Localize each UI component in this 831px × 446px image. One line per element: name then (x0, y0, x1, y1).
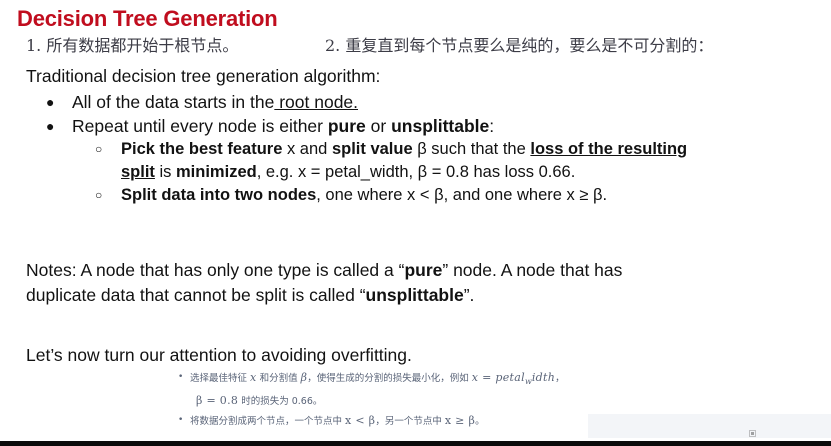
notes-text-part: Notes: A node that has only one type is … (26, 260, 404, 280)
bullet-text-underlined: root node. (274, 92, 358, 112)
bullet-text-part: : (489, 116, 494, 136)
bullet-list: ● All of the data starts in the root nod… (0, 90, 831, 207)
notes-line-1: Notes: A node that has only one type is … (26, 258, 816, 283)
annotation-math-equation: x = petal (472, 371, 525, 384)
annotation-math-condition-2: x ≥ β (445, 414, 475, 427)
annotation-text-part: 选择最佳特征 (190, 373, 250, 384)
sub-bullet-line-1: Pick the best feature x and split value … (121, 138, 831, 161)
list-item: ● Repeat until every node is either pure… (0, 114, 831, 138)
chinese-annotation-block: • 选择最佳特征 x 和分割值 β，使得生成的分割的损失最小化，例如 x = p… (178, 368, 798, 431)
notes-text-bold: pure (404, 260, 442, 280)
sub-bullet-marker-icon: ○ (95, 138, 102, 161)
sub-text-part: x and (282, 140, 332, 158)
sub-bullet-line-1: Split data into two nodes, one where x <… (121, 184, 831, 207)
notes-text-bold: unsplittable (366, 285, 464, 305)
annotation-text-part: 将数据分割成两个节点，一个节点中 (190, 416, 345, 427)
annotation-text-part: ， (555, 373, 565, 384)
chinese-overlay-item-1: 1. 所有数据都开始于根节点。 (26, 32, 238, 56)
bullet-text-part: All of the data starts in the (72, 92, 274, 112)
notes-text-part: ” node. A node that has (442, 260, 622, 280)
bullet-text-part: or (366, 116, 391, 136)
sub-text-part: , one where x < β, and one where x ≥ β. (316, 186, 607, 204)
chinese-overlay-top: 1. 所有数据都开始于根节点。 2. 重复直到每个节点要么是纯的，要么是不可分割… (0, 32, 831, 56)
watermark-core (751, 432, 754, 435)
closing-line: Let’s now turn our attention to avoiding… (26, 345, 412, 366)
sub-list-item: ○ Pick the best feature x and split valu… (0, 138, 831, 184)
bottom-edge-bar (0, 441, 831, 446)
sub-bullet-marker-icon: ○ (95, 184, 102, 207)
sub-text-bold-underlined: loss of the resulting (530, 140, 687, 158)
bullet-text-bold: pure (328, 116, 366, 136)
annotation-text-part: ，使得生成的分割的损失最小化，例如 (307, 373, 472, 384)
annotation-math-condition-1: x < β (345, 414, 375, 427)
sub-bullet-line-2: split is minimized, e.g. x = petal_width… (121, 161, 831, 184)
annotation-text-part: 和分割值 (257, 373, 301, 384)
annotation-math-beta-value: β = 0.8 (196, 394, 238, 407)
slide-canvas: Decision Tree Generation 1. 所有数据都开始于根节点。… (0, 0, 831, 446)
annotation-text-part: 。 (475, 416, 485, 427)
annotation-math-subscript: w (525, 377, 532, 386)
bullet-text-bold: unsplittable (391, 116, 489, 136)
chinese-overlay-item-2: 2. 重复直到每个节点要么是纯的，要么是不可分割的： (325, 32, 713, 56)
annotation-bullet-icon: • (178, 368, 183, 387)
annotation-wrapped-line: β = 0.8 时的损失为 0.66。 (190, 391, 798, 411)
annotation-math-equation-tail: idth (532, 371, 555, 384)
chinese-annotation-item: • 选择最佳特征 x 和分割值 β，使得生成的分割的损失最小化，例如 x = p… (178, 368, 798, 411)
bullet-marker-icon: ● (46, 90, 54, 114)
page-title: Decision Tree Generation (17, 6, 278, 32)
bullet-marker-icon: ● (46, 114, 54, 138)
chinese-annotation-item: • 将数据分割成两个节点，一个节点中 x < β，另一个节点中 x ≥ β。 (178, 411, 798, 431)
sub-text-bold: Split data into two nodes (121, 186, 316, 204)
list-item: ● All of the data starts in the root nod… (0, 90, 831, 114)
notes-text-part: duplicate data that cannot be split is c… (26, 285, 366, 305)
annotation-bullet-icon: • (178, 411, 183, 430)
sub-list-item: ○ Split data into two nodes, one where x… (0, 184, 831, 207)
sub-text-bold: minimized (176, 163, 257, 181)
notes-line-2: duplicate data that cannot be split is c… (26, 283, 816, 308)
notes-paragraph: Notes: A node that has only one type is … (26, 258, 816, 308)
notes-text-part: ”. (464, 285, 475, 305)
sub-text-part: , e.g. x = petal_width, β = 0.8 has loss… (257, 163, 576, 181)
watermark-icon (749, 430, 756, 437)
annotation-text-part: ，另一个节点中 (375, 416, 445, 427)
sub-text-bold: split value (332, 140, 413, 158)
sub-text-part: is (155, 163, 176, 181)
sub-text-bold: Pick the best feature (121, 140, 282, 158)
annotation-text-part: 时的损失为 0.66。 (238, 396, 322, 407)
bullet-text-part: Repeat until every node is either (72, 116, 328, 136)
sub-text-bold-underlined: split (121, 163, 155, 181)
sub-text-part: β such that the (413, 140, 531, 158)
intro-line: Traditional decision tree generation alg… (26, 66, 380, 87)
